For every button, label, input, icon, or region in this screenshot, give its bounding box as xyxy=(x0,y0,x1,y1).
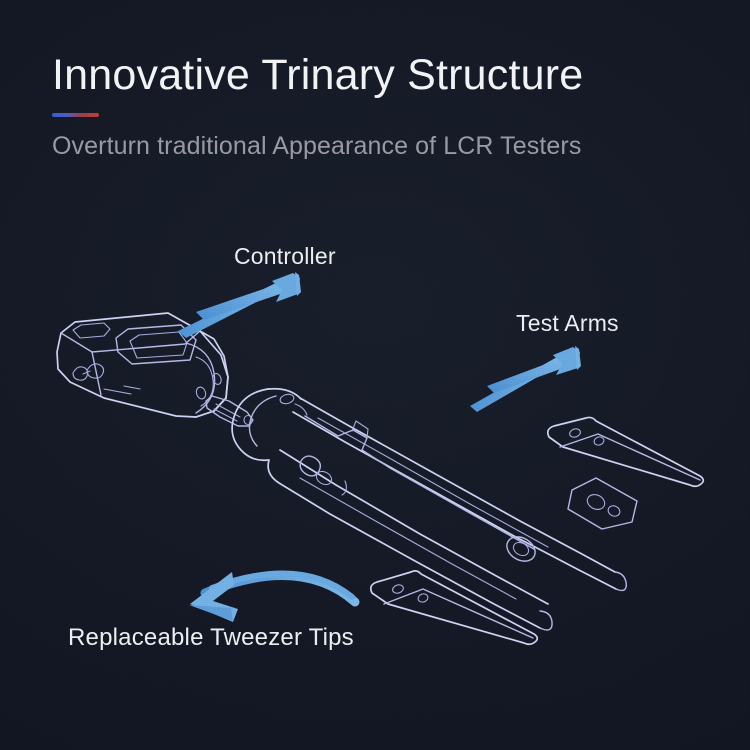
arrow-test-arms-icon xyxy=(470,346,581,412)
callout-label-tweezer-tips: Replaceable Tweezer Tips xyxy=(68,624,354,652)
callout-label-controller: Controller xyxy=(234,243,336,270)
replaceable-tip-upper-art xyxy=(548,417,704,486)
product-feature-slide: Innovative Trinary Structure Overturn tr… xyxy=(0,0,750,750)
accent-divider xyxy=(52,113,99,117)
callout-label-test-arms: Test Arms xyxy=(516,310,619,337)
arrow-tweezer-tips-icon xyxy=(189,572,355,622)
header-block: Innovative Trinary Structure Overturn tr… xyxy=(52,50,692,161)
arrow-controller-icon xyxy=(178,272,301,338)
page-subtitle: Overturn traditional Appearance of LCR T… xyxy=(52,131,692,161)
page-title: Innovative Trinary Structure xyxy=(52,50,692,100)
